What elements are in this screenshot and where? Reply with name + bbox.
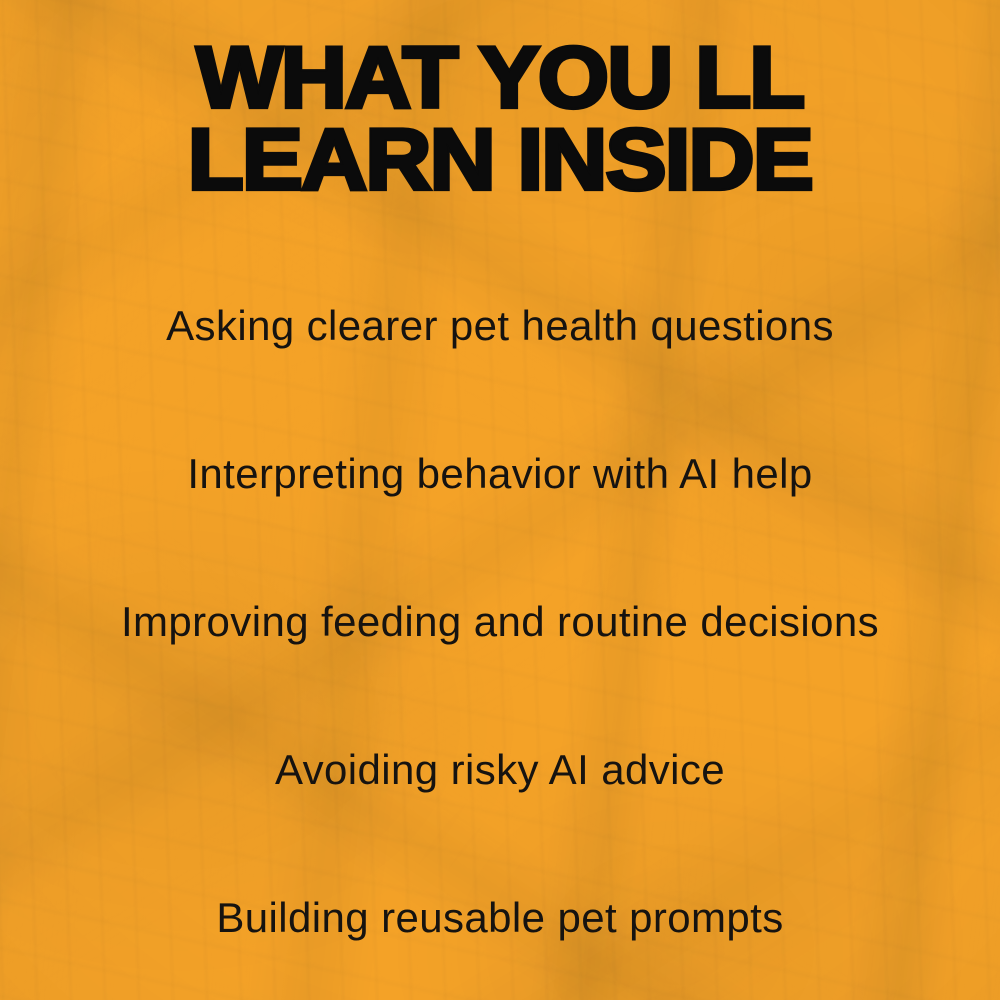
page-title-line-2: LEARN INSIDE xyxy=(0,124,1000,196)
list-item: Improving feeding and routine decisions xyxy=(0,548,1000,696)
page-title: WHAT YOU LL LEARN INSIDE xyxy=(0,42,1000,196)
page-title-line-1: WHAT YOU LL xyxy=(0,42,1000,114)
list-item: Building reusable pet prompts xyxy=(0,844,1000,992)
list-item: Avoiding risky AI advice xyxy=(0,696,1000,844)
poster-canvas: WHAT YOU LL LEARN INSIDE Asking clearer … xyxy=(0,0,1000,1000)
list-item: Interpreting behavior with AI help xyxy=(0,400,1000,548)
poster-content: WHAT YOU LL LEARN INSIDE Asking clearer … xyxy=(0,0,1000,1000)
learning-points-list: Asking clearer pet health questions Inte… xyxy=(0,252,1000,992)
list-item: Asking clearer pet health questions xyxy=(0,252,1000,400)
